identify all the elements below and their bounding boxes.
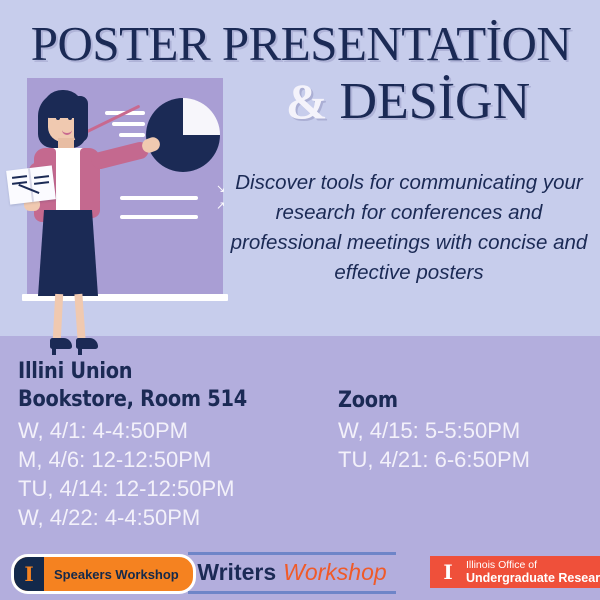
presenter-illustration: ↘ ↗ — [0, 70, 240, 360]
board-text-line — [119, 133, 145, 137]
ampersand-glyph: & — [286, 73, 328, 129]
presenter-shoe-heel — [52, 346, 56, 355]
presenter-eyebrow — [66, 111, 74, 113]
session-item: W, 4/22: 4-4:50PM — [18, 503, 338, 532]
page-title-line-2: &DESİGN — [228, 72, 588, 131]
session-item: W, 4/1: 4-4:50PM — [18, 416, 338, 445]
presenter-eyebrow — [54, 111, 62, 113]
session-item: W, 4/15: 5-5:50PM — [338, 416, 588, 445]
logo-undergraduate-research-text: Illinois Office of Undergraduate Researc… — [466, 559, 600, 585]
session-list-illini-union: W, 4/1: 4-4:50PM M, 4/6: 12-12:50PM TU, … — [18, 416, 338, 532]
board-text-line — [112, 122, 145, 126]
illinois-i-glyph: I — [443, 562, 452, 582]
venue-heading-zoom: Zoom — [338, 387, 558, 415]
venue-heading-line-1: Zoom — [338, 387, 558, 415]
logo-undergraduate-research[interactable]: I Illinois Office of Undergraduate Resea… — [430, 556, 600, 588]
description-text: Discover tools for communicating your re… — [228, 168, 590, 288]
presenter-leg — [53, 294, 63, 340]
logo-speakers-workshop[interactable]: I Speakers Workshop — [11, 554, 196, 594]
presenter-shoe-heel — [78, 346, 82, 355]
presenter-eye — [68, 116, 72, 120]
poster-canvas: POSTER PRESENTATİON &DESİGN Discover too… — [0, 0, 600, 600]
presenter-eye — [56, 116, 60, 120]
board-marker-icon: ↗ — [216, 200, 225, 211]
board-marker-icon: ↘ — [216, 183, 225, 194]
session-list-zoom: W, 4/15: 5-5:50PM TU, 4/21: 6-6:50PM — [338, 416, 588, 474]
logo-writers-word: Writers — [197, 559, 276, 585]
venue-heading-line-2: Bookstore, Room 514 — [18, 386, 317, 414]
session-item: M, 4/6: 12-12:50PM — [18, 445, 338, 474]
logo-workshop-word: Workshop — [283, 559, 387, 585]
logo-ugr-line-2: Undergraduate Research — [466, 572, 600, 585]
page-title-design-word: DESİGN — [339, 73, 530, 130]
logo-writers-workshop[interactable]: WritersWorkshop — [188, 552, 396, 594]
page-title-line-1: POSTER PRESENTATİON — [20, 18, 582, 70]
session-item: TU, 4/21: 6-6:50PM — [338, 445, 588, 474]
venue-heading-line-1: Illini Union — [18, 358, 317, 386]
venue-heading-illini-union: Illini Union Bookstore, Room 514 — [18, 358, 317, 414]
session-item: TU, 4/14: 12-12:50PM — [18, 474, 338, 503]
presenter-hair-side — [74, 96, 88, 142]
logo-speakers-workshop-label: Speakers Workshop — [54, 567, 179, 582]
illinois-i-mark-icon: I — [436, 562, 460, 582]
illinois-i-glyph: I — [24, 564, 33, 584]
board-text-line — [120, 215, 198, 219]
board-text-line — [120, 196, 198, 200]
illinois-i-mark-icon: I — [14, 557, 44, 591]
pie-chart-graphic — [146, 98, 220, 172]
presenter-skirt — [38, 210, 98, 296]
